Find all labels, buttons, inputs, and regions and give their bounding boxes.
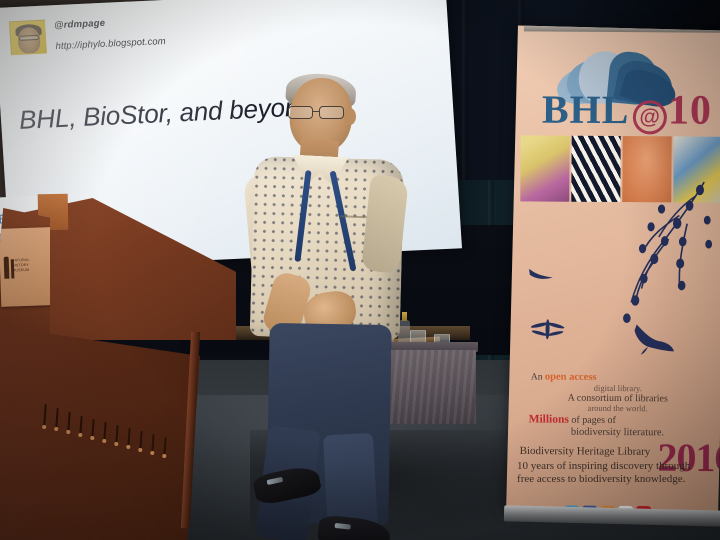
slide-twitter-handle: @rdmpage [54,15,165,31]
swallow-bird-icon [528,266,554,285]
banner-tagline-line1: 10 years of inspiring discovery through [517,460,709,473]
slide-header: @rdmpage http://iphylo.blogspot.com [9,14,166,55]
conference-photo-scene: @rdmpage http://iphylo.blogspot.com BHL,… [0,0,720,540]
banner-org-name: Biodiversity Heritage Library [520,445,670,458]
museum-logo-plaque: NATURAL HISTORY MUSEUM [0,227,53,307]
bhl-roll-up-banner: BHL @ 10 [506,25,720,516]
millions-highlight: Millions [529,413,569,425]
banner-tagline: 10 years of inspiring discovery through … [517,460,709,487]
podium-body [0,326,200,540]
banner-logo-title: BHL @ 10 [542,86,712,135]
dragonfly-icon [530,316,565,343]
slide-blog-url: http://iphylo.blogspot.com [55,36,166,52]
branch-silhouette-icon [596,178,720,341]
eyeglasses-icon [288,106,350,119]
at-symbol-icon: @ [633,100,667,134]
banner-description-block: An open access digital library. A consor… [524,371,710,439]
hummingbird-icon [628,320,677,355]
plaque-text: NATURAL HISTORY MUSEUM [12,257,43,280]
banner-line-5: Millions of pages of [525,413,711,427]
orchid-illustration [520,135,569,201]
banner-tagline-line2: free access to biodiversity knowledge. [517,473,709,486]
banner-logo-bhl: BHL [542,86,630,134]
speaker-person [248,78,408,540]
banner-logo-ten: 10 [668,86,712,134]
speaker-avatar-thumbnail [9,20,47,56]
lectern-podium: NATURAL HISTORY MUSEUM [0,198,240,540]
open-access-highlight: open access [545,372,597,383]
